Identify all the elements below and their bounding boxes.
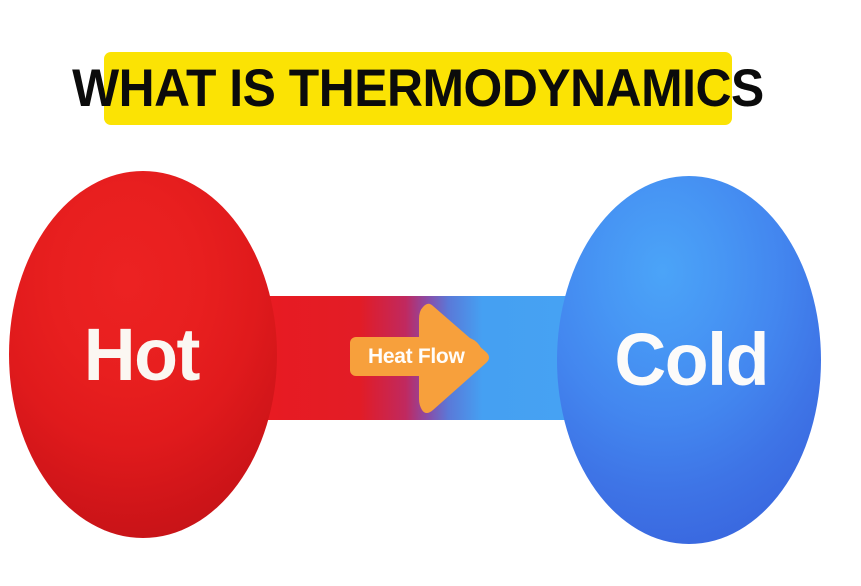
hot-body-ellipse: Hot <box>9 171 277 538</box>
page-title: WHAT IS THERMODYNAMICS <box>72 62 764 115</box>
hot-body-label: Hot <box>83 318 198 392</box>
infographic-canvas: WHAT IS THERMODYNAMICS Hot Cold Heat Flo… <box>0 0 861 586</box>
heat-flow-label-pill: Heat Flow <box>351 337 483 376</box>
title-banner: WHAT IS THERMODYNAMICS <box>104 52 732 125</box>
heat-flow-label: Heat Flow <box>368 346 464 367</box>
cold-body-ellipse: Cold <box>557 176 821 544</box>
cold-body-label: Cold <box>614 323 768 397</box>
